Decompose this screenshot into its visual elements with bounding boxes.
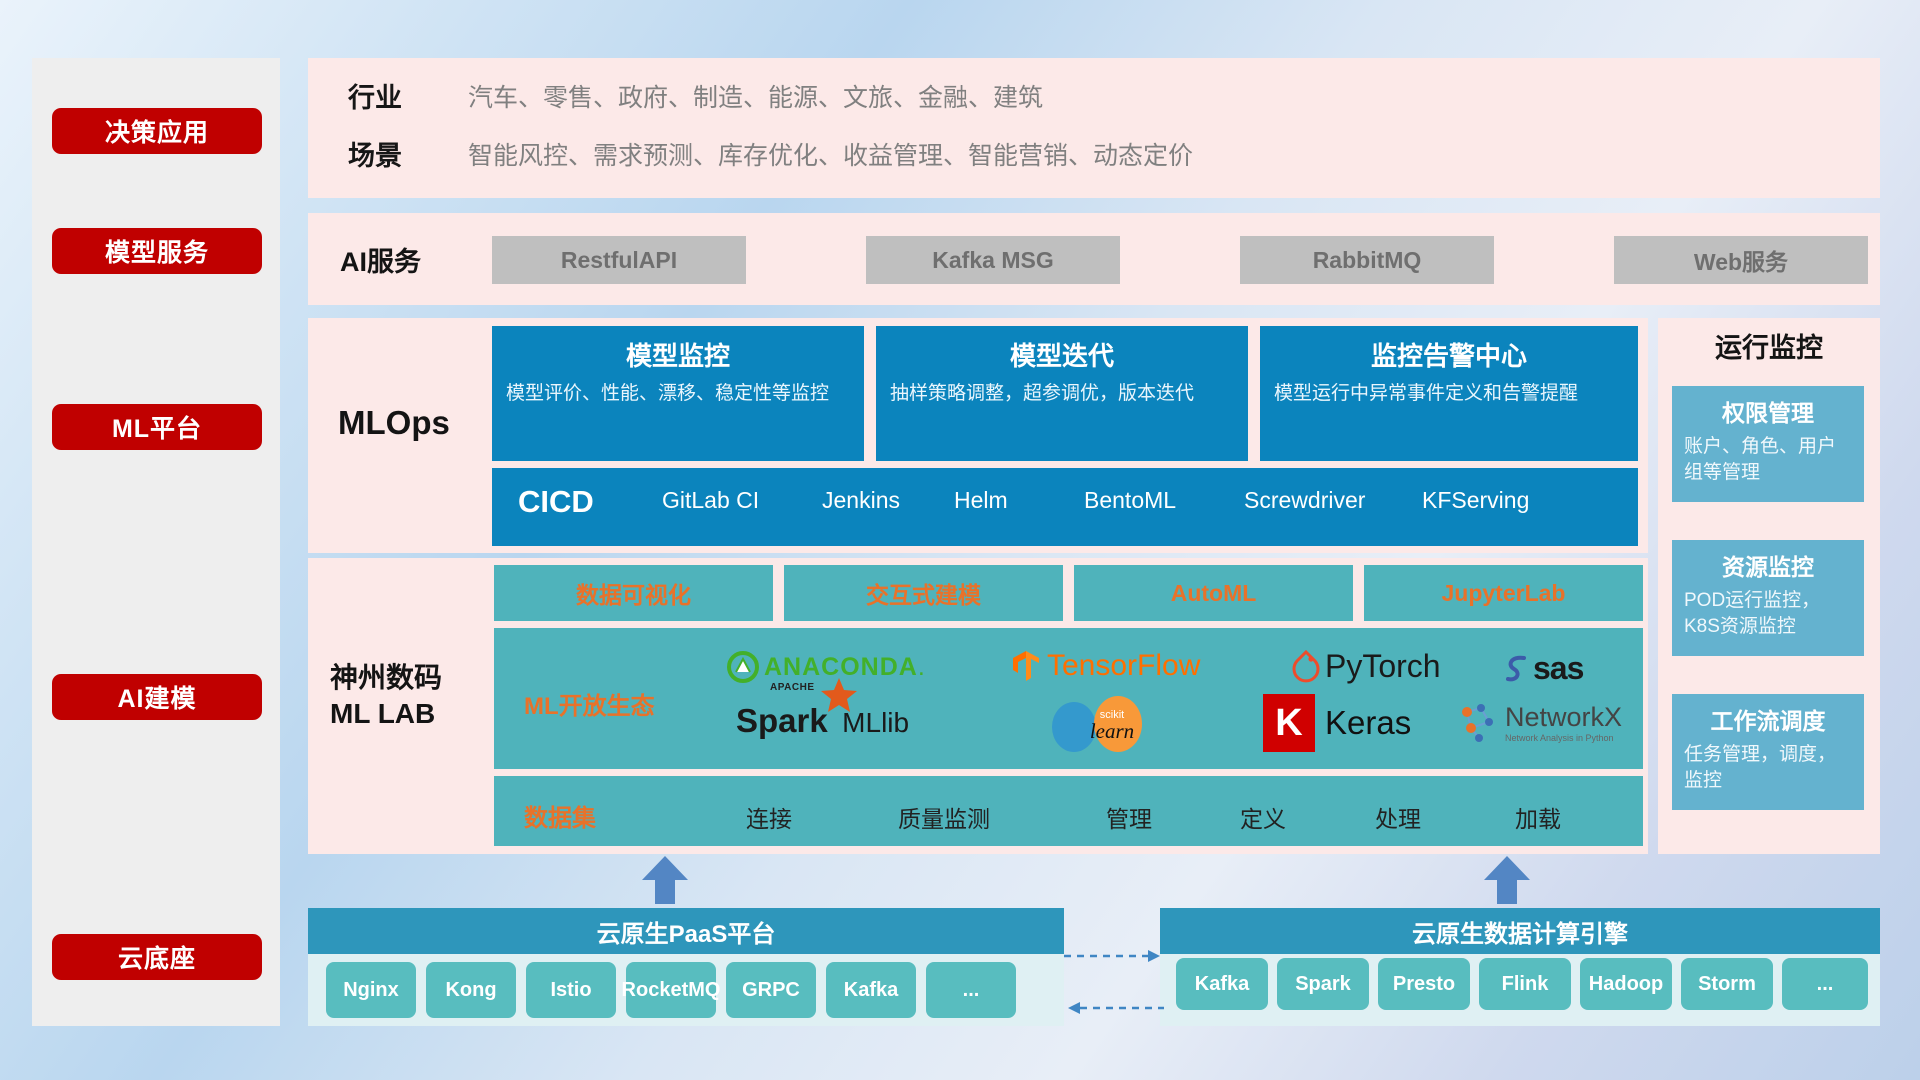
mlops-card-desc: 抽样策略调整，超参调优，版本迭代 <box>890 381 1234 407</box>
scene-label: 场景 <box>348 134 468 173</box>
networkx-logo: NetworkX Network Analysis in Python <box>1455 700 1622 744</box>
mlops-card-alert-center[interactable]: 监控告警中心 模型运行中异常事件定义和告警提醒 <box>1260 326 1638 461</box>
scene-row: 场景 智能风控、需求预测、库存优化、收益管理、智能营销、动态定价 <box>348 134 1193 173</box>
mlops-label: MLOps <box>338 400 498 446</box>
sas-logo: sas <box>1501 650 1583 687</box>
ai-service-label: AI服务 <box>340 236 490 282</box>
cicd-item-bentoml[interactable]: BentoML <box>1084 486 1212 515</box>
mlops-card-title: 模型迭代 <box>890 336 1234 373</box>
ml-lab-label: 神州数码 ML LAB <box>330 660 490 733</box>
dataset-item-process[interactable]: 处理 <box>1375 800 1421 834</box>
monitoring-card-desc: 任务管理，调度，监控 <box>1684 742 1852 793</box>
ml-lab-tab-jupyterlab[interactable]: JupyterLab <box>1364 565 1643 621</box>
scikit-learn-logo: scikit learn <box>1040 694 1190 754</box>
ml-lab-tab-automl[interactable]: AutoML <box>1074 565 1353 621</box>
engine-pill-hadoop[interactable]: Hadoop <box>1580 958 1672 1010</box>
spark-mllib-logo: APACHE Spark MLlib <box>736 702 909 740</box>
monitoring-card-permission[interactable]: 权限管理 账户、角色、用户组等管理 <box>1672 386 1864 502</box>
industry-row: 行业 汽车、零售、政府、制造、能源、文旅、金融、建筑 <box>348 76 1043 115</box>
dataset-item-manage[interactable]: 管理 <box>1106 800 1152 834</box>
monitoring-card-title: 工作流调度 <box>1684 702 1852 736</box>
dataset-item-connect[interactable]: 连接 <box>746 800 792 834</box>
mlops-card-desc: 模型运行中异常事件定义和告警提醒 <box>1274 381 1624 407</box>
mlops-card-model-monitor[interactable]: 模型监控 模型评价、性能、漂移、稳定性等监控 <box>492 326 864 461</box>
cicd-item-helm[interactable]: Helm <box>954 486 1082 515</box>
arrow-up-right <box>1482 856 1532 909</box>
paas-header: 云原生PaaS平台 <box>308 908 1064 954</box>
dataset-item-load[interactable]: 加载 <box>1515 800 1561 834</box>
arrow-up-left <box>640 856 690 909</box>
monitoring-card-workflow[interactable]: 工作流调度 任务管理，调度，监控 <box>1672 694 1864 810</box>
dataset-block <box>494 776 1643 846</box>
ai-service-chip-kafka-msg[interactable]: Kafka MSG <box>866 236 1120 284</box>
monitoring-card-resource[interactable]: 资源监控 POD运行监控，K8S资源监控 <box>1672 540 1864 656</box>
paas-pill-kafka[interactable]: Kafka <box>826 962 916 1018</box>
svg-text:learn: learn <box>1090 719 1134 743</box>
ml-lab-label-line2: ML LAB <box>330 696 490 732</box>
paas-pill-kong[interactable]: Kong <box>426 962 516 1018</box>
pytorch-logo: PyTorch <box>1291 648 1441 685</box>
ai-service-chip-restfulapi[interactable]: RestfulAPI <box>492 236 746 284</box>
industry-value: 汽车、零售、政府、制造、能源、文旅、金融、建筑 <box>468 78 1043 114</box>
mlops-card-title: 模型监控 <box>506 336 850 373</box>
paas-pill-rocketmq[interactable]: RocketMQ <box>626 962 716 1018</box>
mlops-card-title: 监控告警中心 <box>1274 336 1624 373</box>
rail-item-decision-app[interactable]: 决策应用 <box>52 108 262 154</box>
mlops-card-model-iteration[interactable]: 模型迭代 抽样策略调整，超参调优，版本迭代 <box>876 326 1248 461</box>
engine-pill-spark[interactable]: Spark <box>1277 958 1369 1010</box>
engine-pill-kafka[interactable]: Kafka <box>1176 958 1268 1010</box>
ml-lab-tab-interactive-modeling[interactable]: 交互式建模 <box>784 565 1063 621</box>
monitoring-card-title: 资源监控 <box>1684 548 1852 582</box>
dataset-label: 数据集 <box>524 798 596 833</box>
rail-item-ml-platform[interactable]: ML平台 <box>52 404 262 450</box>
rail-item-model-service[interactable]: 模型服务 <box>52 228 262 274</box>
paas-pill-nginx[interactable]: Nginx <box>326 962 416 1018</box>
industry-label: 行业 <box>348 76 468 115</box>
cicd-item-screwdriver[interactable]: Screwdriver <box>1244 486 1372 515</box>
dashed-arrow-left <box>1060 1000 1164 1021</box>
cicd-label: CICD <box>518 484 594 520</box>
scene-value: 智能风控、需求预测、库存优化、收益管理、智能营销、动态定价 <box>468 136 1193 172</box>
engine-pill-presto[interactable]: Presto <box>1378 958 1470 1010</box>
ml-lab-tab-data-visualization[interactable]: 数据可视化 <box>494 565 773 621</box>
ml-ecosystem-label: ML开放生态 <box>524 686 655 721</box>
ml-lab-label-line1: 神州数码 <box>330 660 490 696</box>
left-rail: 决策应用 模型服务 ML平台 AI建模 云底座 <box>32 58 280 1026</box>
data-engine-header: 云原生数据计算引擎 <box>1160 908 1880 954</box>
architecture-diagram: 决策应用 模型服务 ML平台 AI建模 云底座 行业 汽车、零售、政府、制造、能… <box>0 0 1920 1080</box>
monitoring-title: 运行监控 <box>1658 326 1880 365</box>
cicd-bar: CICD GitLab CI Jenkins Helm BentoML Scre… <box>492 468 1638 546</box>
dashed-arrow-right <box>1064 948 1164 969</box>
cicd-item-kfserving[interactable]: KFServing <box>1422 486 1550 515</box>
rail-item-ai-modeling[interactable]: AI建模 <box>52 674 262 720</box>
monitoring-card-title: 权限管理 <box>1684 394 1852 428</box>
engine-pill-flink[interactable]: Flink <box>1479 958 1571 1010</box>
dataset-item-define[interactable]: 定义 <box>1240 800 1286 834</box>
dataset-item-quality[interactable]: 质量监测 <box>898 800 990 834</box>
rail-item-cloud-base[interactable]: 云底座 <box>52 934 262 980</box>
ai-service-chip-web-service[interactable]: Web服务 <box>1614 236 1868 284</box>
monitoring-card-desc: POD运行监控，K8S资源监控 <box>1684 588 1852 639</box>
engine-pill-more[interactable]: ... <box>1782 958 1868 1010</box>
keras-logo: K Keras <box>1263 694 1411 752</box>
cicd-item-jenkins[interactable]: Jenkins <box>822 486 950 515</box>
mlops-card-desc: 模型评价、性能、漂移、稳定性等监控 <box>506 381 850 407</box>
cicd-item-gitlab-ci[interactable]: GitLab CI <box>662 486 790 515</box>
tensorflow-logo: TensorFlow <box>1008 648 1200 684</box>
engine-pill-storm[interactable]: Storm <box>1681 958 1773 1010</box>
monitoring-card-desc: 账户、角色、用户组等管理 <box>1684 434 1852 485</box>
ai-service-chip-rabbitmq[interactable]: RabbitMQ <box>1240 236 1494 284</box>
paas-pill-more[interactable]: ... <box>926 962 1016 1018</box>
paas-pill-istio[interactable]: Istio <box>526 962 616 1018</box>
paas-pill-grpc[interactable]: GRPC <box>726 962 816 1018</box>
